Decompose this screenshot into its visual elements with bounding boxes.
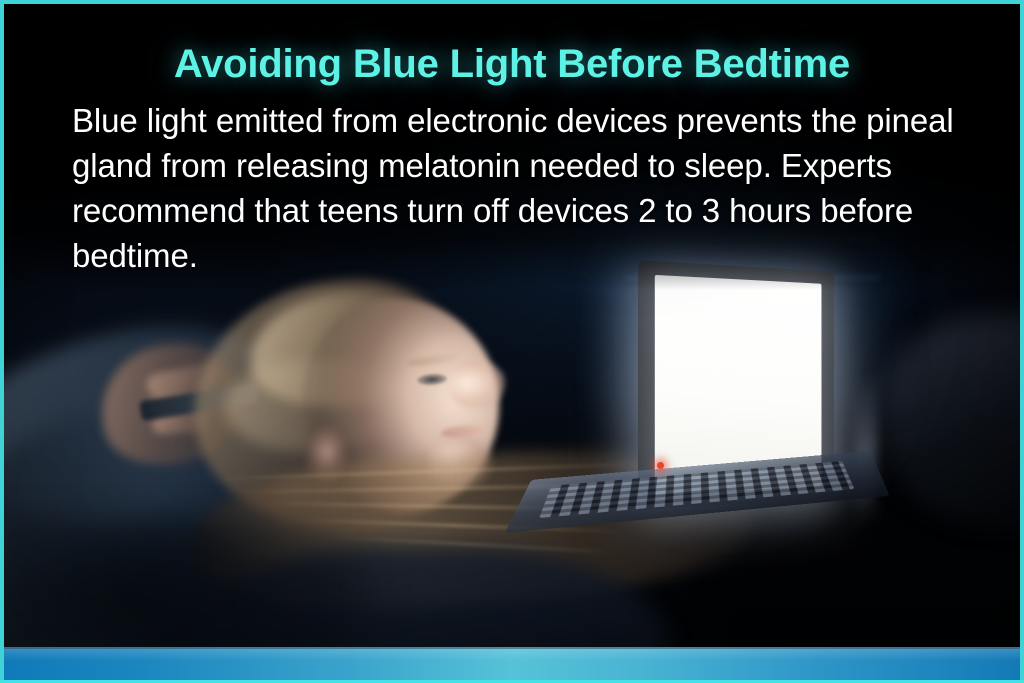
bottom-gradient-bar bbox=[0, 647, 1024, 683]
nose bbox=[449, 360, 505, 408]
laptop bbox=[600, 255, 1000, 585]
page-title: Avoiding Blue Light Before Bedtime bbox=[0, 0, 1024, 84]
bar-sheen bbox=[0, 647, 1024, 661]
lid-edge-sheen bbox=[855, 372, 877, 527]
power-led-icon bbox=[657, 462, 664, 469]
infographic-card: Avoiding Blue Light Before Bedtime Blue … bbox=[0, 0, 1024, 683]
body-paragraph: Blue light emitted from electronic devic… bbox=[0, 84, 1024, 278]
text-block: Avoiding Blue Light Before Bedtime Blue … bbox=[0, 0, 1024, 278]
